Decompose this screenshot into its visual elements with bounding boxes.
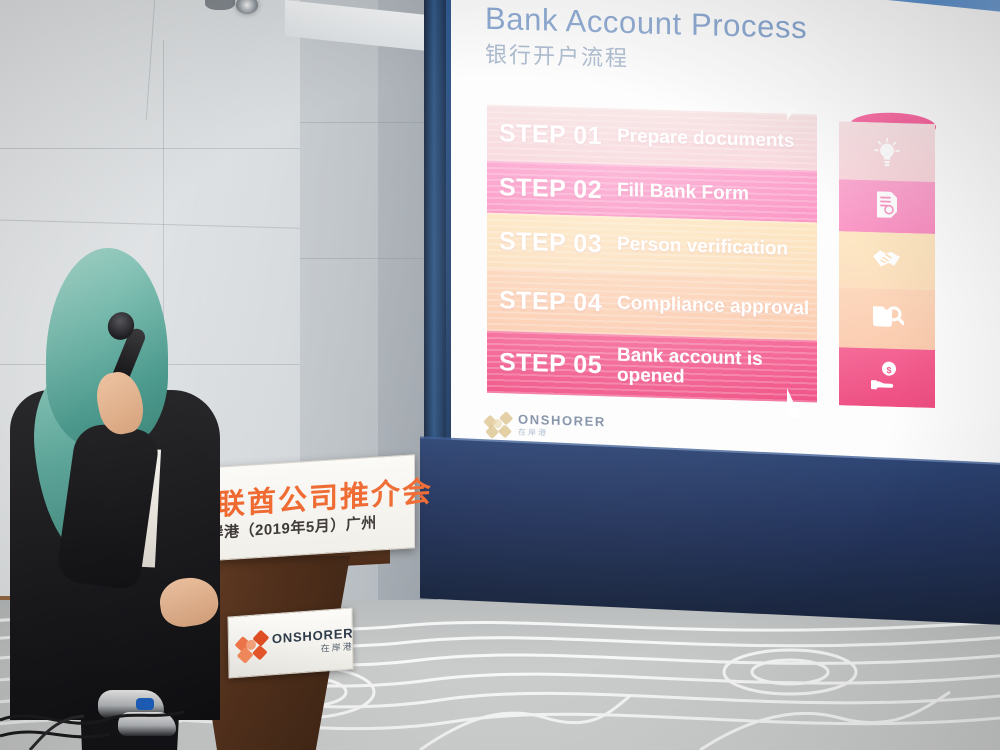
wall-seam	[0, 148, 300, 149]
step-number: STEP 01	[487, 118, 617, 151]
document-signed-icon	[839, 183, 935, 226]
step-label: Fill Bank Form	[617, 181, 749, 205]
step-number: STEP 02	[487, 172, 617, 205]
step-band: STEP 01 Prepare documents	[487, 105, 817, 171]
folder-search-icon	[839, 293, 935, 338]
step-label: Compliance approval	[617, 294, 809, 320]
conference-photo-scene: Bank Account Process 银行开户流程 STEP 01 Prep…	[0, 0, 1000, 750]
step-band: STEP 05 Bank account is opened	[487, 331, 817, 403]
wall-seam	[146, 0, 155, 120]
hand-coin-icon: $	[839, 351, 935, 400]
step-number: STEP 05	[487, 347, 617, 380]
step-number: STEP 03	[487, 226, 617, 259]
step-number: STEP 04	[487, 285, 617, 318]
floor-cables	[0, 676, 210, 750]
process-funnel-graphic: STEP 01 Prepare documents STEP 02 Fill B…	[487, 105, 907, 407]
svg-text:$: $	[886, 365, 891, 375]
speaker-person	[10, 248, 250, 750]
ceiling-light-icon	[236, 0, 258, 14]
step-label: Person verification	[617, 235, 788, 260]
step-label: Bank account is opened	[617, 346, 817, 392]
slide-title-chinese: 银行开户流程	[485, 37, 629, 73]
step-band: STEP 04 Compliance approval	[487, 269, 817, 341]
stage-skirt	[420, 438, 1000, 625]
step-band: STEP 03 Person verification	[487, 213, 817, 279]
funnel-icon-cylinder: $	[839, 121, 935, 408]
presentation-slide: Bank Account Process 银行开户流程 STEP 01 Prep…	[451, 0, 1000, 486]
lightbulb-icon	[839, 133, 935, 172]
step-label: Prepare documents	[617, 127, 794, 152]
ceiling-fixture	[205, 0, 235, 10]
onshorer-logo-icon	[485, 411, 511, 438]
handshake-icon	[839, 235, 935, 280]
slide-footer-logo: ONSHORER 在岸港	[485, 411, 606, 441]
